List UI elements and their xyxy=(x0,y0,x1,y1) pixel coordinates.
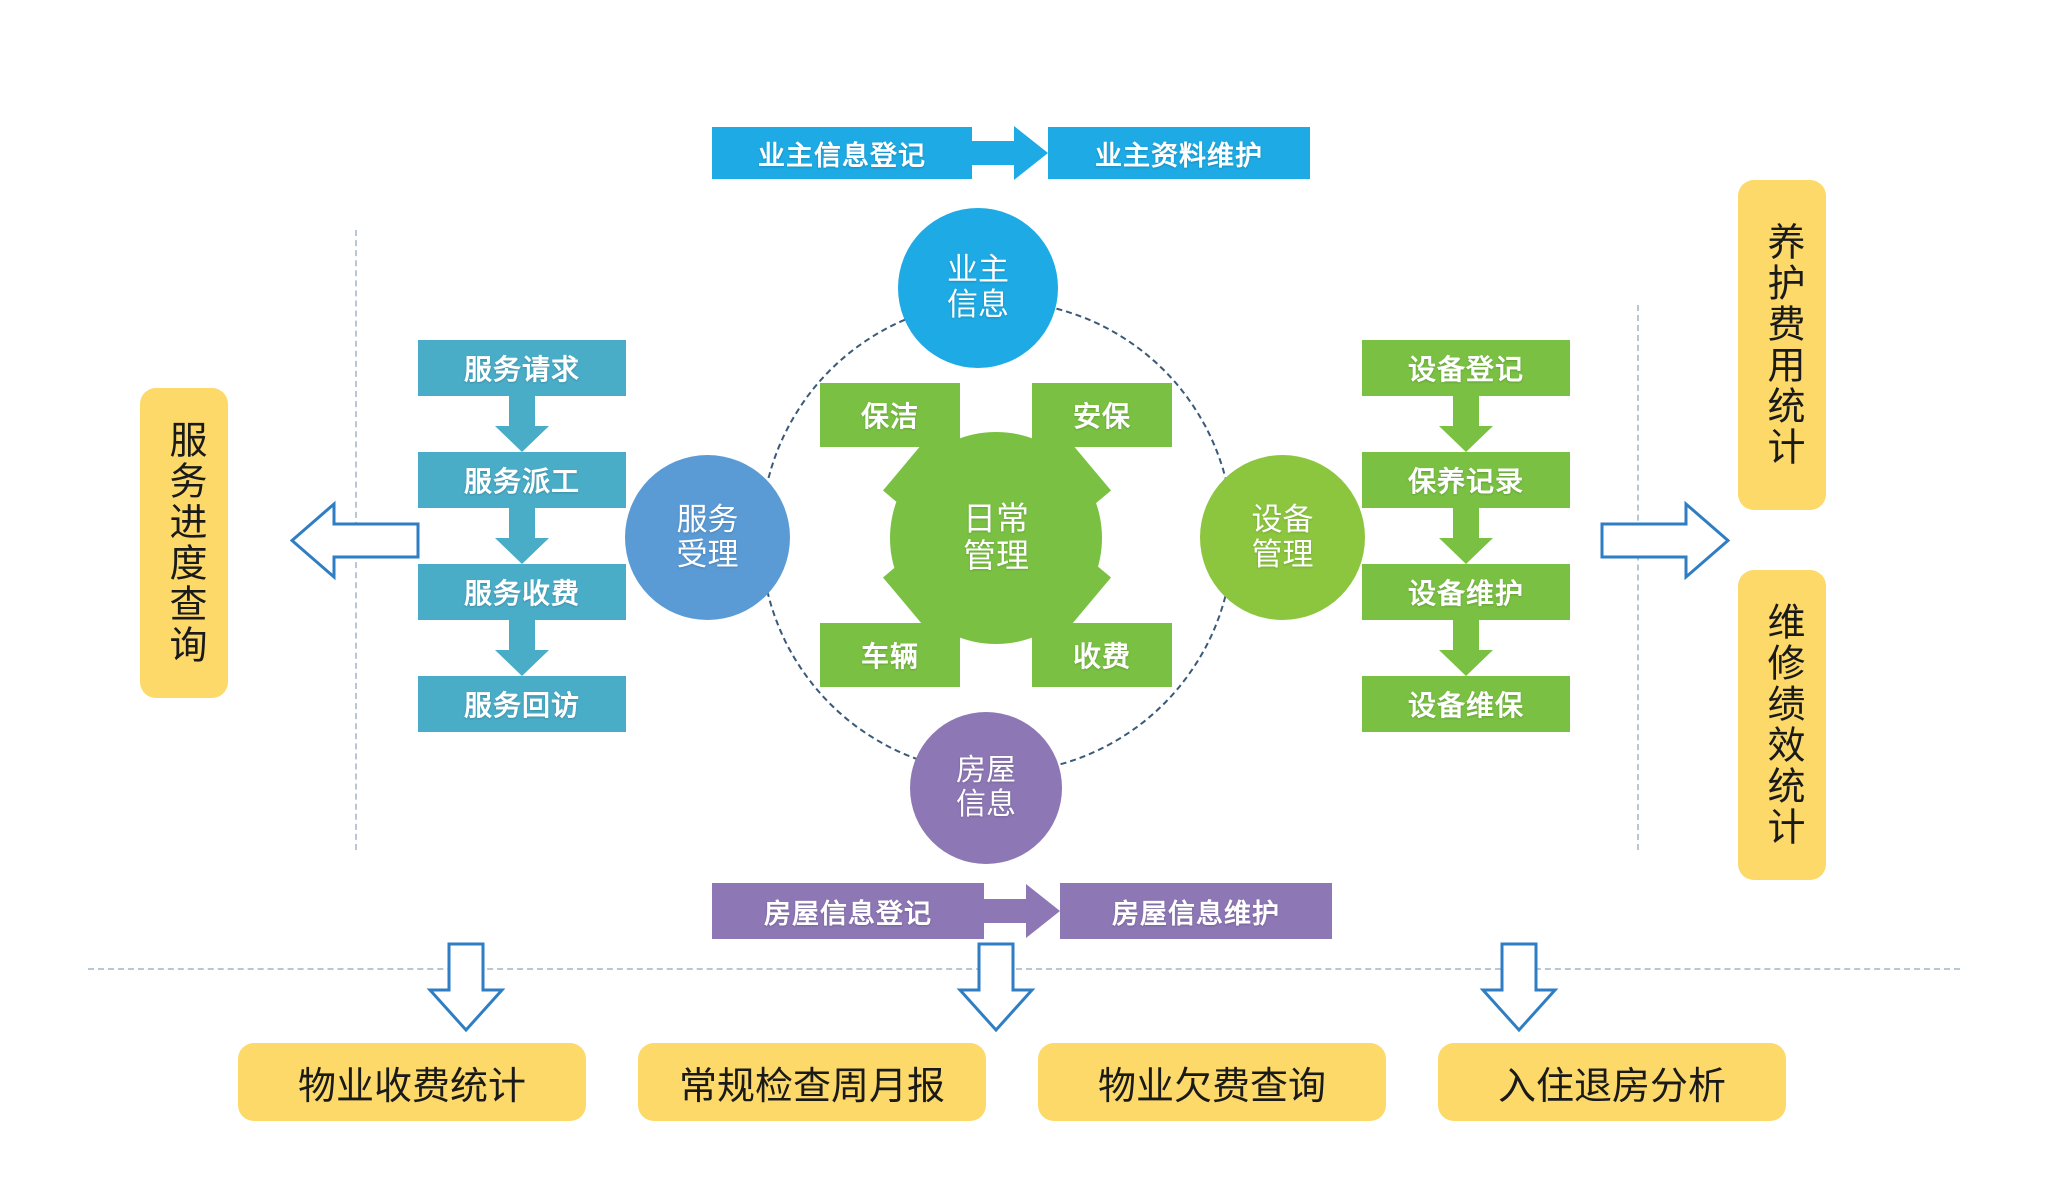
arrow-down-outline-icon-1 xyxy=(422,942,510,1032)
owner-maintain-box[interactable]: 业主资料维护 xyxy=(1048,127,1310,179)
house-maintain-box[interactable]: 房屋信息维护 xyxy=(1060,883,1332,939)
owner-info-hub[interactable]: 业主 信息 xyxy=(898,208,1058,368)
report-inspection-report-label: 常规检查周月报 xyxy=(679,1055,945,1110)
daily-management-hub[interactable]: 日常 管理 xyxy=(890,432,1102,644)
report-repair-performance-label: 维修绩效统计 xyxy=(1762,602,1802,848)
equipment-arrow-1 xyxy=(1429,396,1503,452)
service-arrow-2 xyxy=(485,508,559,564)
owner-maintain-label: 业主资料维护 xyxy=(1095,134,1263,173)
satellite-label-shoufei: 收费 xyxy=(1073,635,1131,675)
report-maintenance-cost[interactable]: 养护费用统计 xyxy=(1738,180,1826,510)
report-service-progress[interactable]: 服务进度查询 xyxy=(140,388,228,698)
arrow-down-outline-icon-2 xyxy=(952,942,1040,1032)
satellite-box-shoufei[interactable]: 收费 xyxy=(1032,623,1172,687)
service-step-3-label: 服务收费 xyxy=(464,572,580,612)
equipment-step-1[interactable]: 设备登记 xyxy=(1362,340,1570,396)
service-arrow-1 xyxy=(485,396,559,452)
house-register-box[interactable]: 房屋信息登记 xyxy=(712,883,984,939)
equipment-hub-line1: 设备 xyxy=(1252,503,1314,538)
equipment-arrow-3 xyxy=(1429,620,1503,676)
equipment-step-1-label: 设备登记 xyxy=(1408,348,1524,388)
satellite-label-anbao: 安保 xyxy=(1073,395,1131,435)
house-flow-arrow xyxy=(984,883,1060,939)
report-service-progress-label: 服务进度查询 xyxy=(164,420,204,666)
center-hub-line2: 管理 xyxy=(963,538,1029,575)
house-hub-line2: 信息 xyxy=(956,788,1016,822)
service-acceptance-hub[interactable]: 服务 受理 xyxy=(625,455,790,620)
service-step-4-label: 服务回访 xyxy=(464,684,580,724)
arrow-left-outline-icon xyxy=(290,498,420,583)
equipment-step-2-label: 保养记录 xyxy=(1408,460,1524,500)
owner-register-label: 业主信息登记 xyxy=(758,134,926,173)
report-occupancy-analysis-label: 入住退房分析 xyxy=(1498,1055,1726,1110)
equipment-management-hub[interactable]: 设备 管理 xyxy=(1200,455,1365,620)
equipment-hub-line2: 管理 xyxy=(1252,538,1314,573)
house-maintain-label: 房屋信息维护 xyxy=(1112,892,1280,931)
service-hub-line2: 受理 xyxy=(677,538,739,573)
owner-register-box[interactable]: 业主信息登记 xyxy=(712,127,972,179)
service-hub-line1: 服务 xyxy=(677,503,739,538)
equipment-arrow-2 xyxy=(1429,508,1503,564)
report-maintenance-cost-label: 养护费用统计 xyxy=(1762,222,1802,468)
report-fee-statistics[interactable]: 物业收费统计 xyxy=(238,1043,586,1121)
service-step-2[interactable]: 服务派工 xyxy=(418,452,626,508)
satellite-box-anbao[interactable]: 安保 xyxy=(1032,383,1172,447)
service-step-2-label: 服务派工 xyxy=(464,460,580,500)
report-arrears-query-label: 物业欠费查询 xyxy=(1098,1055,1326,1110)
equipment-step-4-label: 设备维保 xyxy=(1408,684,1524,724)
house-register-label: 房屋信息登记 xyxy=(764,892,932,931)
owner-hub-line2: 信息 xyxy=(947,288,1009,323)
report-occupancy-analysis[interactable]: 入住退房分析 xyxy=(1438,1043,1786,1121)
equipment-step-4[interactable]: 设备维保 xyxy=(1362,676,1570,732)
satellite-label-cheliang: 车辆 xyxy=(861,635,919,675)
service-step-4[interactable]: 服务回访 xyxy=(418,676,626,732)
arrow-down-outline-icon-3 xyxy=(1475,942,1563,1032)
report-repair-performance[interactable]: 维修绩效统计 xyxy=(1738,570,1826,880)
equipment-step-3[interactable]: 设备维护 xyxy=(1362,564,1570,620)
service-step-1[interactable]: 服务请求 xyxy=(418,340,626,396)
center-hub-line1: 日常 xyxy=(963,501,1029,538)
house-hub-line1: 房屋 xyxy=(956,754,1016,788)
satellite-box-cheliang[interactable]: 车辆 xyxy=(820,623,960,687)
owner-flow-arrow xyxy=(972,127,1048,179)
diagram-canvas: 业主信息登记 业主资料维护 业主 信息 保洁 安保 车辆 收费 日常 管理 服务… xyxy=(0,0,2048,1185)
service-arrow-3 xyxy=(485,620,559,676)
satellite-box-baojie[interactable]: 保洁 xyxy=(820,383,960,447)
service-step-3[interactable]: 服务收费 xyxy=(418,564,626,620)
report-arrears-query[interactable]: 物业欠费查询 xyxy=(1038,1043,1386,1121)
equipment-step-2[interactable]: 保养记录 xyxy=(1362,452,1570,508)
report-inspection-report[interactable]: 常规检查周月报 xyxy=(638,1043,986,1121)
arrow-right-outline-icon xyxy=(1600,498,1730,583)
equipment-step-3-label: 设备维护 xyxy=(1408,572,1524,612)
house-info-hub[interactable]: 房屋 信息 xyxy=(910,712,1062,864)
service-step-1-label: 服务请求 xyxy=(464,348,580,388)
report-fee-statistics-label: 物业收费统计 xyxy=(298,1055,526,1110)
satellite-label-baojie: 保洁 xyxy=(861,395,919,435)
owner-hub-line1: 业主 xyxy=(947,253,1009,288)
